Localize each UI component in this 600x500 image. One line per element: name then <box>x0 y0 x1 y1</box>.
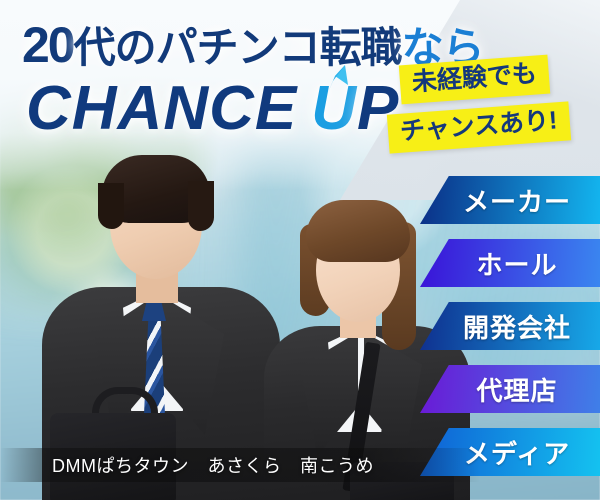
businesswoman-hair <box>306 200 410 262</box>
businessman-hair <box>102 155 210 223</box>
badge-line-1: 未経験でも <box>399 55 550 105</box>
headline-number: 20 <box>22 17 74 73</box>
category-label: ホール <box>462 245 557 282</box>
caption-text: DMMぱちタウン あさくら 南こうめ <box>0 452 374 478</box>
badge-line-2: チャンスあり! <box>387 101 571 153</box>
category-bar-maker[interactable]: メーカー <box>420 176 600 224</box>
inexperienced-welcome-badge: 未経験でも チャンスあり! <box>388 58 594 162</box>
category-label: 開発会社 <box>449 308 571 345</box>
caption-strip: DMMぱちタウン あさくら 南こうめ <box>0 448 600 482</box>
headline-main: 代のパチンコ転職 <box>74 24 402 71</box>
chance-up-logotype: CHANCEUP <box>26 73 399 144</box>
logotype-u: U <box>311 74 357 143</box>
category-label: 代理店 <box>462 371 557 408</box>
advertisement-banner[interactable]: 20代のパチンコ転職なら CHANCEUP 未経験でも チャンスあり! メーカー… <box>0 0 600 500</box>
category-bar-developer[interactable]: 開発会社 <box>420 302 600 350</box>
category-bar-agency[interactable]: 代理店 <box>420 365 600 413</box>
category-bar-hall[interactable]: ホール <box>420 239 600 287</box>
category-label: メーカー <box>449 182 571 219</box>
category-list: メーカー ホール 開発会社 代理店 メディア <box>420 176 600 476</box>
logotype-chance: CHANCE <box>26 74 297 143</box>
